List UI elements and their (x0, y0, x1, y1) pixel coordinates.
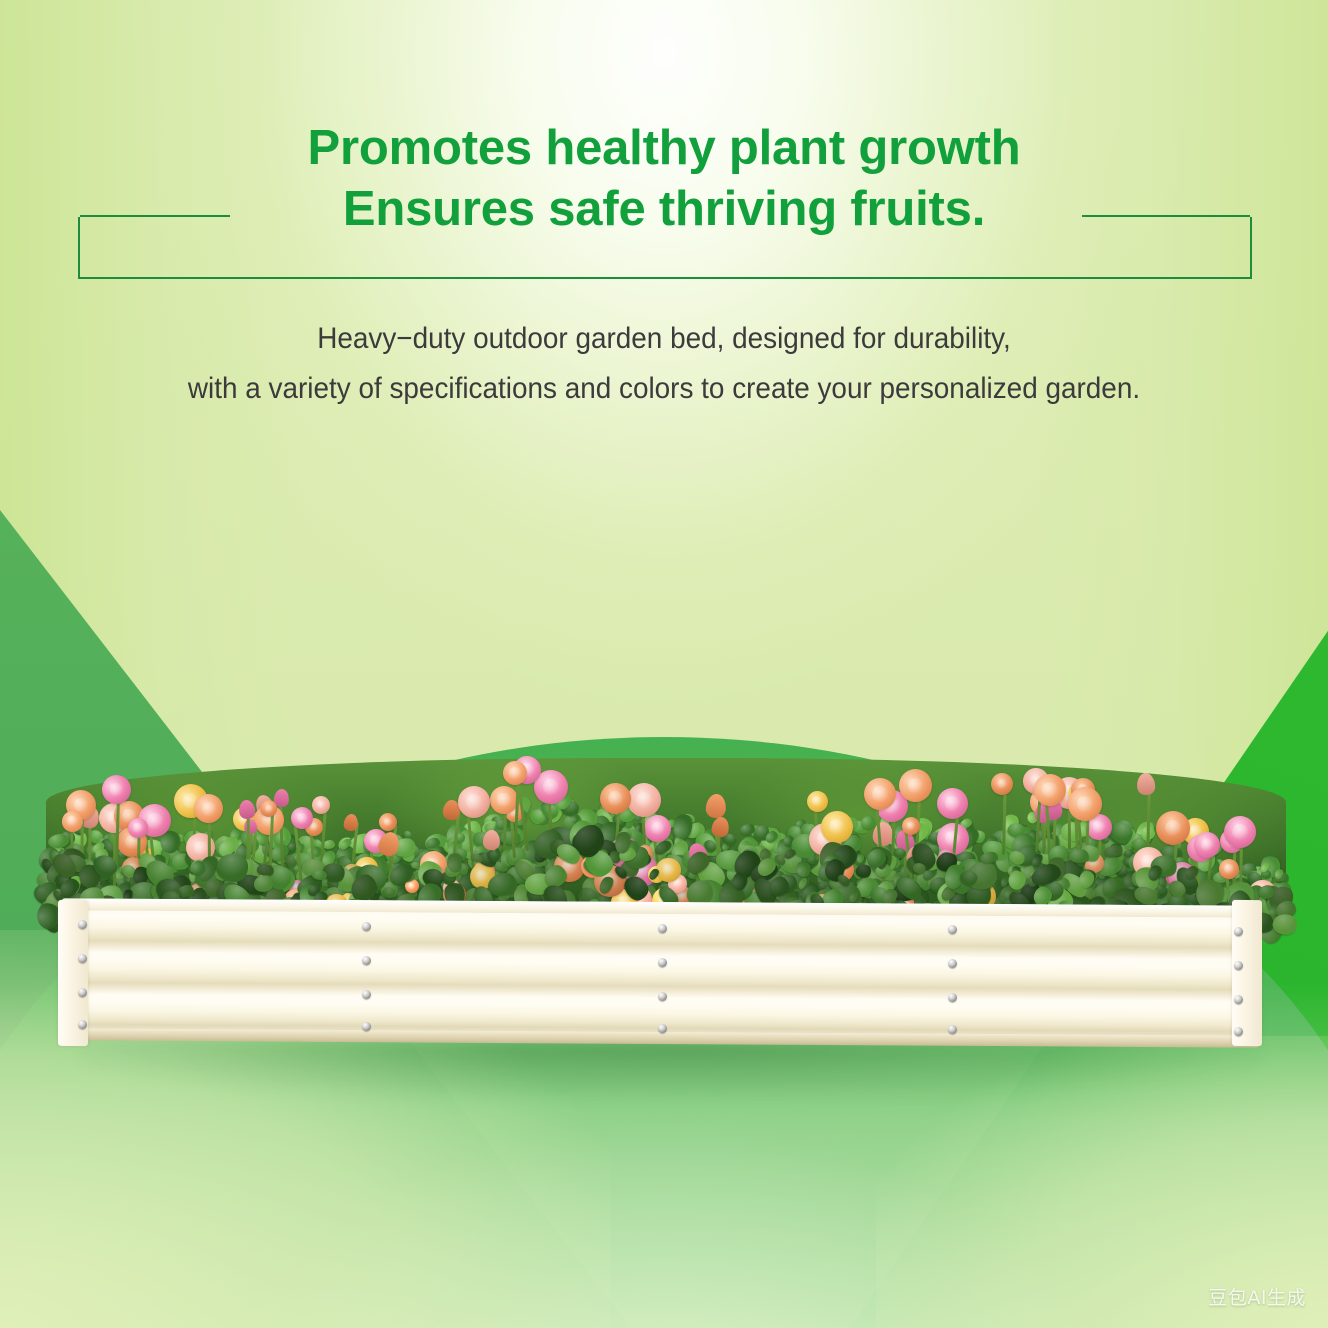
bed-bolt (658, 1024, 667, 1033)
bed-bolt (1234, 995, 1243, 1004)
bed-right-corner-bracket (1232, 900, 1262, 1046)
bed-bolt (362, 990, 371, 999)
bed-bolt (362, 922, 371, 931)
bed-bolt (362, 956, 371, 965)
bed-bolt (658, 958, 667, 967)
poster-canvas: Promotes healthy plant growth Ensures sa… (0, 0, 1328, 1328)
bed-bolt (362, 1022, 371, 1031)
page-title: Promotes healthy plant growth Ensures sa… (0, 118, 1328, 240)
subtitle-line-1: Heavy−duty outdoor garden bed, designed … (46, 314, 1281, 364)
bed-bolt (658, 992, 667, 1001)
product-image-raised-garden-bed (0, 690, 1328, 1110)
rose-bud (482, 830, 499, 851)
bed-bolt (1234, 927, 1243, 936)
bed-bolt (658, 924, 667, 933)
bed-bolt (1234, 961, 1243, 970)
watermark-label: 豆包AI生成 (1208, 1283, 1306, 1310)
subtitle-line-2: with a variety of specifications and col… (46, 364, 1281, 414)
rose-bloom (656, 858, 680, 882)
page-subtitle: Heavy−duty outdoor garden bed, designed … (0, 314, 1328, 414)
title-line-2: Ensures safe thriving fruits. (0, 179, 1328, 240)
bed-ground-shadow (80, 1042, 1260, 1098)
rose-plants (46, 696, 1286, 928)
rose-bloom (457, 786, 489, 818)
metal-planter-bed (62, 902, 1258, 1050)
bed-bolt (1234, 1027, 1243, 1036)
title-line-1: Promotes healthy plant growth (0, 118, 1328, 179)
rose-bloom (936, 788, 968, 820)
